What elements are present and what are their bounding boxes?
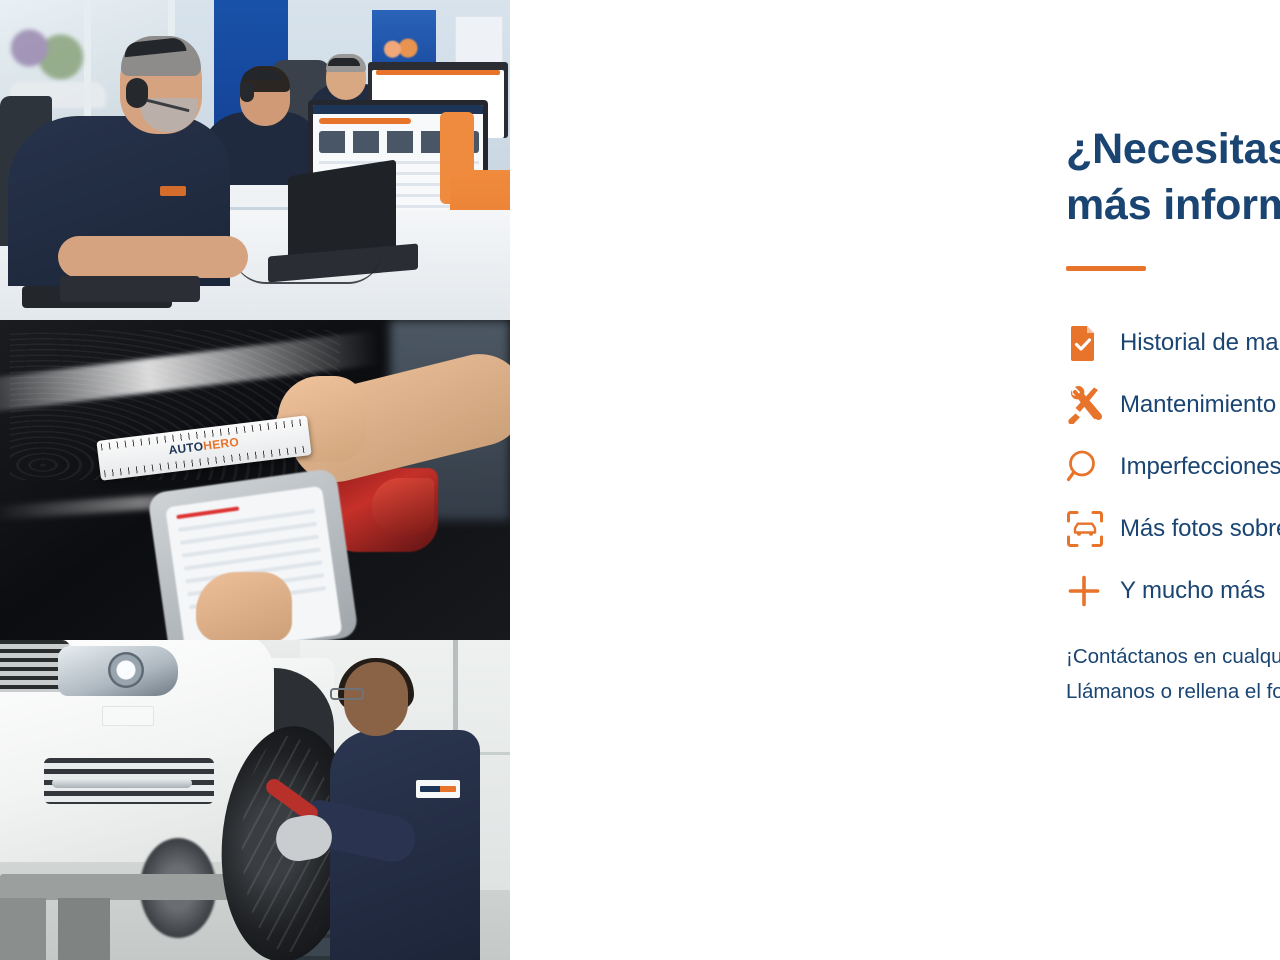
feature-label: Y mucho más [1120, 577, 1265, 605]
autohero-info-banner: AUTOHERO [0, 0, 1280, 960]
agent-three-headset [328, 58, 360, 66]
mechanic-logo-patch [416, 780, 460, 798]
feature-item-imperfections: Imperfecciones [1066, 436, 1280, 498]
agent-two-headset [242, 70, 282, 80]
feature-label: Mantenimiento realizado [1120, 391, 1280, 419]
contact-text: ¡Contáctanos en cualquier momento para m… [1066, 640, 1280, 710]
car-inspection-ruler-photo: AUTOHERO [0, 320, 510, 640]
desk-cable [232, 250, 382, 284]
feature-item-maintenance-history: Historial de mantenimientos [1066, 312, 1280, 374]
mechanic-glasses [330, 688, 364, 700]
feature-label: Imperfecciones [1120, 453, 1280, 481]
agent-one-arm [58, 236, 248, 278]
feature-item-maintenance-done: Mantenimiento realizado [1066, 374, 1280, 436]
feature-label: Historial de mantenimientos [1120, 329, 1280, 357]
feature-label: Más fotos sobre el coche [1120, 515, 1280, 543]
plus-icon [1066, 573, 1120, 609]
call-center-agents-photo [0, 0, 510, 320]
agent-two-earcup [240, 82, 254, 102]
document-check-icon [1066, 325, 1120, 361]
page-title-line1: ¿Necesitas [1066, 125, 1280, 173]
feature-list: Historial de mantenimientos Mantenimient… [1066, 312, 1280, 622]
car-focus-icon [1066, 510, 1120, 548]
wall-notice [455, 16, 503, 68]
wall-poster [372, 10, 436, 68]
agent-one-logo-patch [160, 186, 186, 196]
contact-line-2: Llámanos o rellena el formulario de cont… [1066, 675, 1280, 710]
info-panel: ¿Necesitas más información? Historial de… [510, 0, 1280, 960]
car-lift-platform [0, 874, 250, 900]
photo-column: AUTOHERO [0, 0, 510, 960]
desk-tablet [60, 276, 200, 302]
title-divider [1066, 266, 1146, 271]
mechanic-wheel-photo [0, 640, 510, 960]
page-title-line2: más información? [1066, 178, 1280, 234]
chrome-trim [52, 778, 192, 788]
wrench-screwdriver-icon [1066, 386, 1120, 424]
outdoor-greenery [6, 24, 84, 84]
magnifier-icon [1066, 449, 1120, 485]
tablet-holding-hand [196, 572, 292, 640]
tail-light-inner [372, 478, 434, 534]
agent-one-earcup [126, 78, 148, 108]
feature-item-more-photos: Más fotos sobre el coche [1066, 498, 1280, 560]
lift-column [0, 898, 46, 960]
feature-item-much-more: Y mucho más [1066, 560, 1280, 622]
contact-line-1: ¡Contáctanos en cualquier momento para m… [1066, 640, 1280, 675]
car-headlight [58, 646, 178, 696]
page-title: ¿Necesitas más información? [1066, 122, 1280, 234]
lift-column [58, 898, 110, 960]
licence-plate [102, 706, 154, 726]
